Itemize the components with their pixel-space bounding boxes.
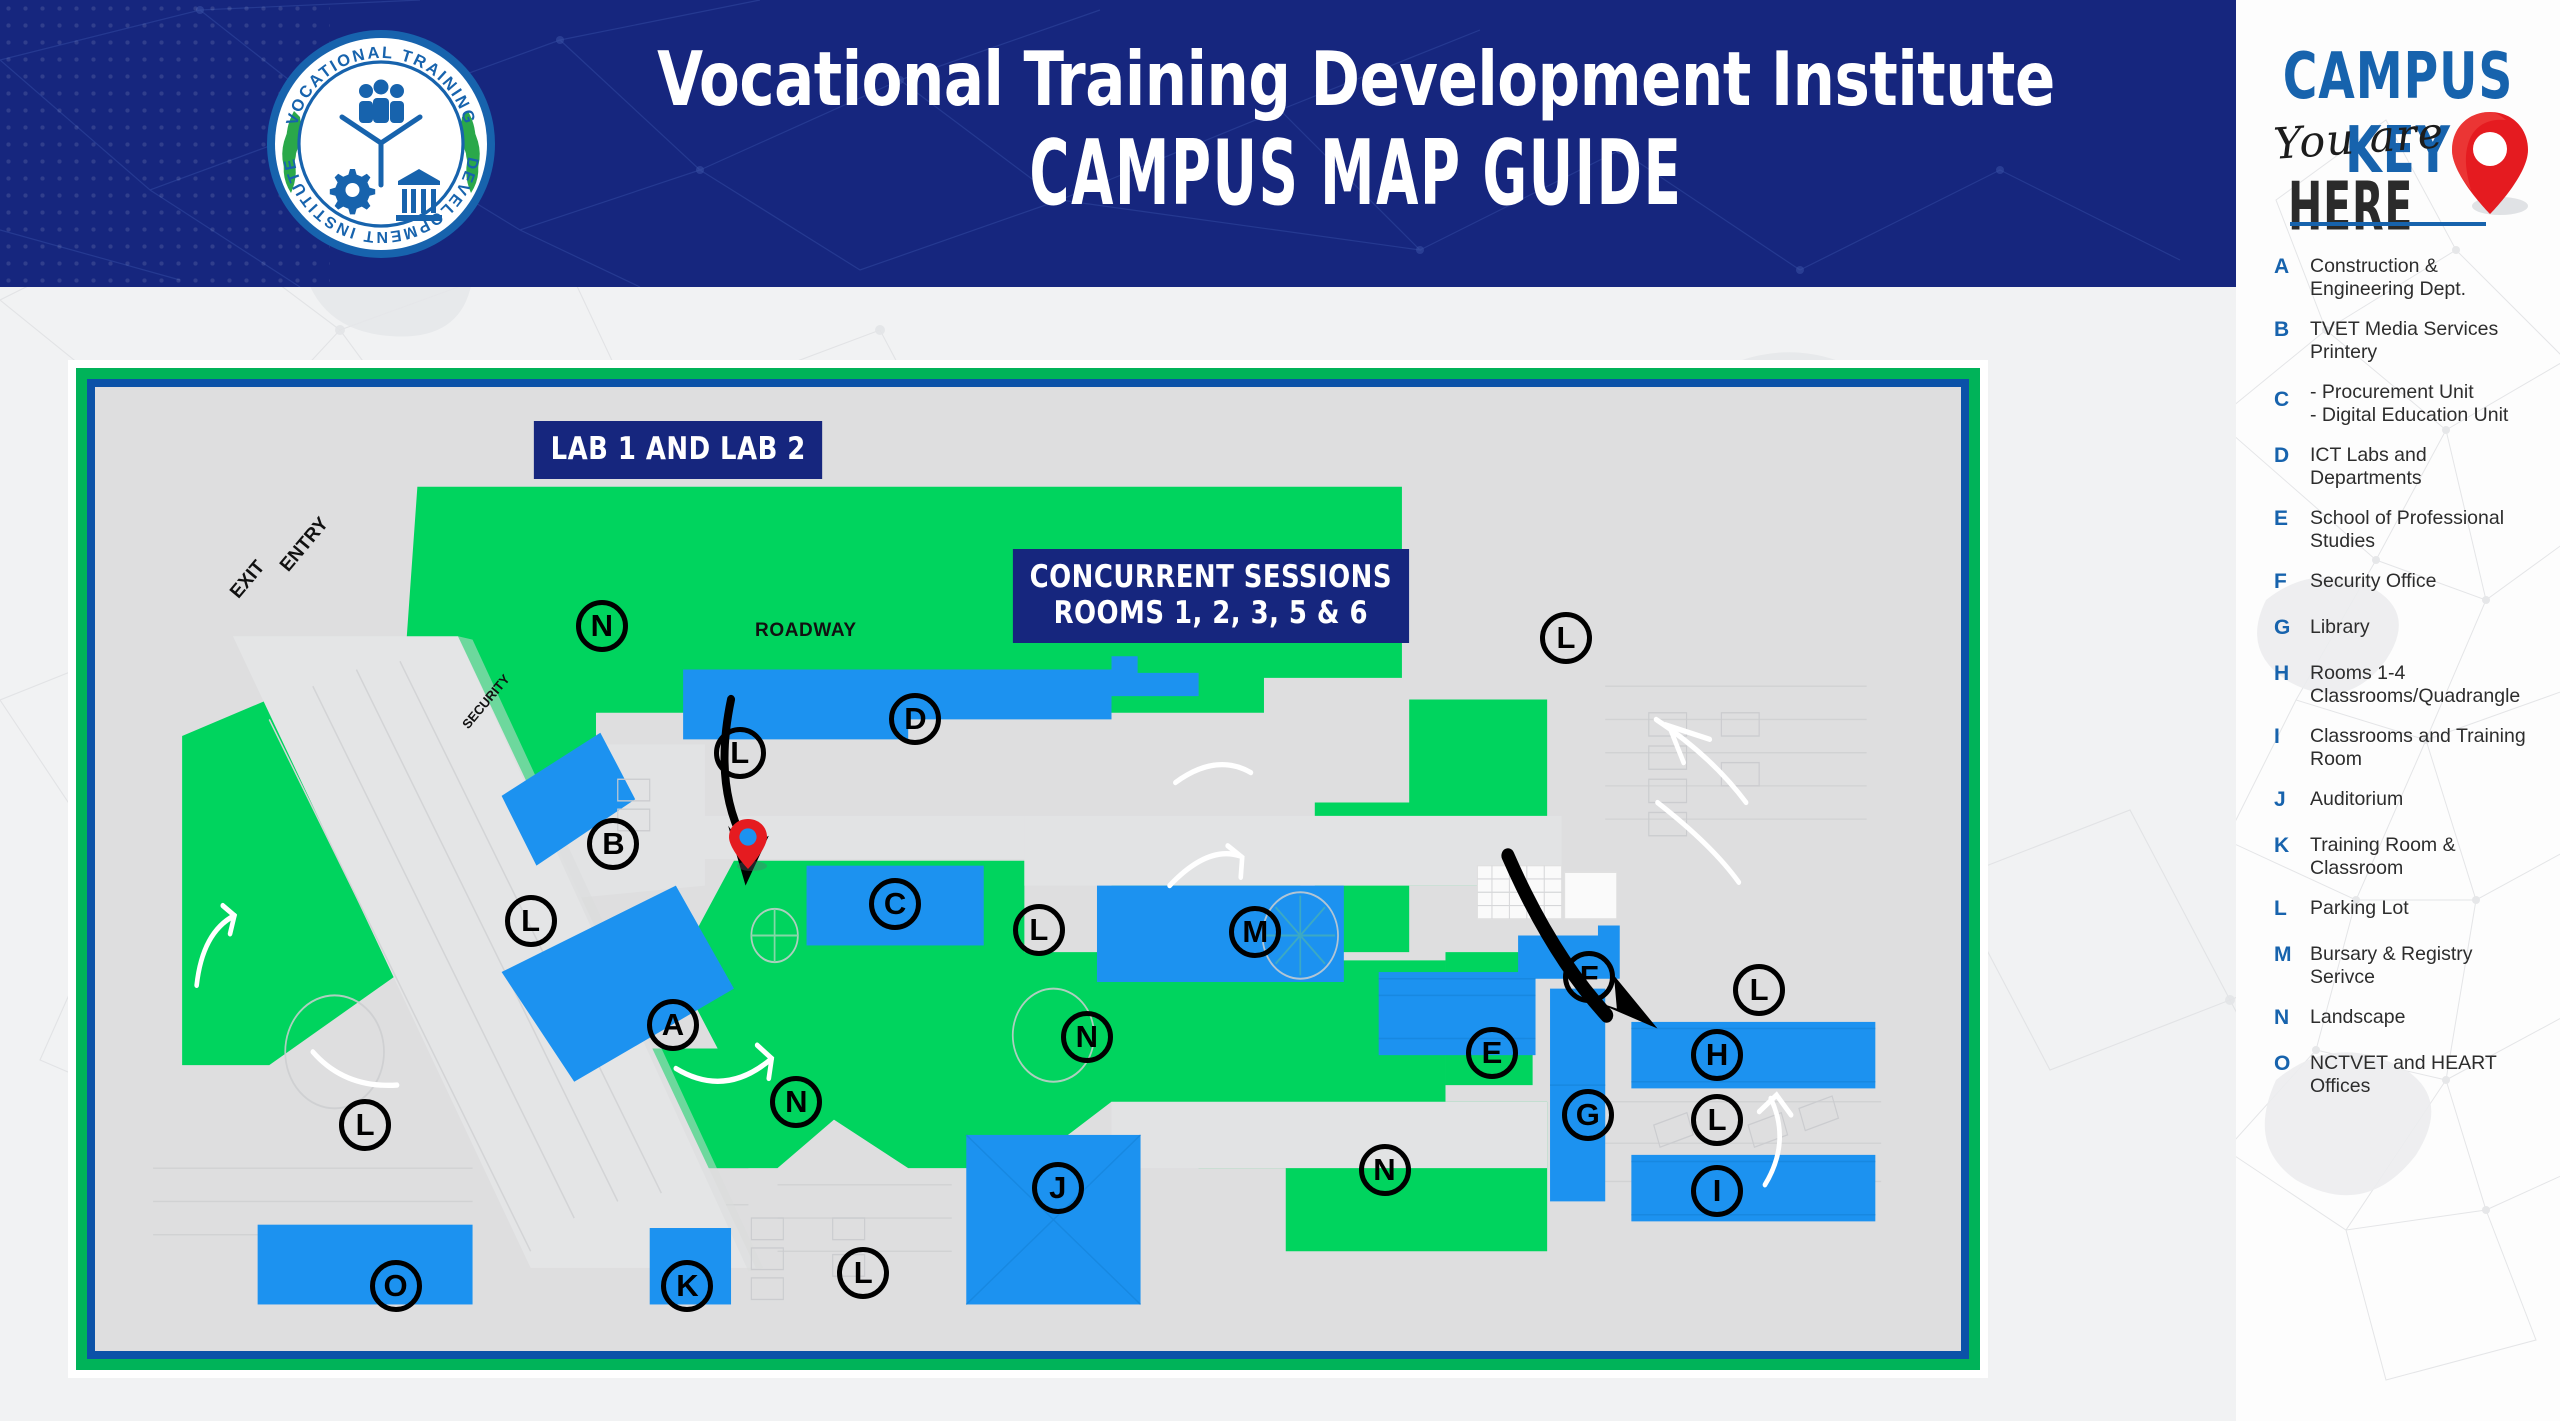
- campus-key-list: AConstruction & Engineering Dept.BTVET M…: [2236, 250, 2560, 1110]
- map-geometry: [95, 387, 1961, 1351]
- map-marker-n[interactable]: N: [1061, 1011, 1113, 1063]
- key-row-l[interactable]: LParking Lot: [2236, 892, 2560, 926]
- key-label-c: - Procurement Unit- Digital Education Un…: [2310, 376, 2508, 427]
- key-label-n: Landscape: [2310, 1001, 2405, 1029]
- key-letter-j: J: [2274, 783, 2310, 817]
- campus-map-page: VOCATIONAL TRAINING DEVELOPMENT INSTITUT…: [0, 0, 2560, 1421]
- here-text: HERE: [2288, 168, 2413, 246]
- map-marker-a[interactable]: A: [647, 999, 699, 1051]
- key-row-i[interactable]: IClassrooms and Training Room: [2236, 720, 2560, 771]
- key-row-m[interactable]: MBursary & Registry Serivce: [2236, 938, 2560, 989]
- map-marker-k[interactable]: K: [661, 1260, 713, 1312]
- map-marker-n[interactable]: N: [576, 600, 628, 652]
- map-marker-n[interactable]: N: [1359, 1144, 1411, 1196]
- key-letter-g: G: [2274, 611, 2310, 645]
- key-row-j[interactable]: JAuditorium: [2236, 783, 2560, 817]
- map-marker-h[interactable]: H: [1691, 1029, 1743, 1081]
- key-letter-k: K: [2274, 829, 2310, 863]
- map-marker-n[interactable]: N: [770, 1076, 822, 1128]
- map-marker-b[interactable]: B: [587, 818, 639, 870]
- map-marker-l[interactable]: L: [1013, 904, 1065, 956]
- key-letter-l: L: [2274, 892, 2310, 926]
- key-label-i: Classrooms and Training Room: [2310, 720, 2542, 771]
- key-letter-m: M: [2274, 938, 2310, 972]
- map-canvas[interactable]: ROADWAY ENTRY EXIT SECURITY LAB 1 AND LA…: [95, 387, 1961, 1351]
- road-label-roadway: ROADWAY: [755, 620, 857, 642]
- map-marker-j[interactable]: J: [1032, 1162, 1084, 1214]
- map-border-inner: ROADWAY ENTRY EXIT SECURITY LAB 1 AND LA…: [87, 379, 1969, 1359]
- page-title: Vocational Training Development Institut…: [652, 38, 2060, 120]
- key-letter-n: N: [2274, 1001, 2310, 1035]
- key-label-g: Library: [2310, 611, 2370, 639]
- key-letter-d: D: [2274, 439, 2310, 473]
- map-marker-m[interactable]: M: [1229, 906, 1281, 958]
- key-row-h[interactable]: HRooms 1-4 Classrooms/Quadrangle: [2236, 657, 2560, 708]
- key-label-l: Parking Lot: [2310, 892, 2409, 920]
- you-are-here-pin-icon: [2444, 108, 2536, 220]
- key-row-e[interactable]: ESchool of Professional Studies: [2236, 502, 2560, 553]
- header-title-block: Vocational Training Development Institut…: [556, 38, 2156, 204]
- map-marker-o[interactable]: O: [370, 1260, 422, 1312]
- map-marker-e[interactable]: E: [1466, 1027, 1518, 1079]
- map-marker-g[interactable]: G: [1562, 1089, 1614, 1141]
- key-label-e: School of Professional Studies: [2310, 502, 2542, 553]
- key-letter-o: O: [2274, 1047, 2310, 1081]
- key-letter-a: A: [2274, 250, 2310, 284]
- key-row-o[interactable]: ONCTVET and HEART Offices: [2236, 1047, 2560, 1098]
- key-row-n[interactable]: NLandscape: [2236, 1001, 2560, 1035]
- key-row-k[interactable]: KTraining Room & Classroom: [2236, 829, 2560, 880]
- key-label-k: Training Room & Classroom: [2310, 829, 2542, 880]
- key-row-c[interactable]: C- Procurement Unit- Digital Education U…: [2236, 376, 2560, 427]
- map-marker-l[interactable]: L: [1733, 964, 1785, 1016]
- key-letter-f: F: [2274, 565, 2310, 599]
- map-marker-l[interactable]: L: [1691, 1094, 1743, 1146]
- key-letter-c: C: [2274, 376, 2310, 424]
- key-row-g[interactable]: GLibrary: [2236, 611, 2560, 645]
- map-marker-l[interactable]: L: [1540, 612, 1592, 664]
- map-marker-l[interactable]: L: [714, 727, 766, 779]
- campus-map[interactable]: ROADWAY ENTRY EXIT SECURITY LAB 1 AND LA…: [68, 360, 1988, 1378]
- key-label-d: ICT Labs and Departments: [2310, 439, 2542, 490]
- key-label-h: Rooms 1-4 Classrooms/Quadrangle: [2310, 657, 2542, 708]
- map-marker-c[interactable]: C: [869, 878, 921, 930]
- callout-sessions[interactable]: CONCURRENT SESSIONS ROOMS 1, 2, 3, 5 & 6: [1013, 549, 1409, 643]
- key-label-f: Security Office: [2310, 565, 2436, 593]
- key-row-f[interactable]: FSecurity Office: [2236, 565, 2560, 599]
- key-label-b: TVET Media Services Printery: [2310, 313, 2542, 364]
- callout-lab[interactable]: LAB 1 AND LAB 2: [534, 421, 823, 479]
- callout-lab-line1: LAB 1 AND LAB 2: [551, 431, 806, 467]
- map-marker-i[interactable]: I: [1691, 1165, 1743, 1217]
- page-header: VOCATIONAL TRAINING DEVELOPMENT INSTITUT…: [0, 0, 2236, 287]
- key-letter-i: I: [2274, 720, 2310, 754]
- map-marker-l[interactable]: L: [339, 1099, 391, 1151]
- map-marker-f[interactable]: F: [1563, 951, 1615, 1003]
- you-are-here-pin-map: [727, 817, 769, 873]
- key-label-j: Auditorium: [2310, 783, 2403, 811]
- key-letter-h: H: [2274, 657, 2310, 691]
- map-marker-l[interactable]: L: [837, 1247, 889, 1299]
- callout-sessions-line2: ROOMS 1, 2, 3, 5 & 6: [1030, 595, 1392, 631]
- key-label-m: Bursary & Registry Serivce: [2310, 938, 2542, 989]
- key-row-a[interactable]: AConstruction & Engineering Dept.: [2236, 250, 2560, 301]
- key-letter-b: B: [2274, 313, 2310, 347]
- key-row-b[interactable]: BTVET Media Services Printery: [2236, 313, 2560, 364]
- key-letter-e: E: [2274, 502, 2310, 536]
- callout-sessions-line1: CONCURRENT SESSIONS: [1030, 559, 1392, 595]
- key-label-a: Construction & Engineering Dept.: [2310, 250, 2542, 301]
- page-subtitle: CAMPUS MAP GUIDE: [700, 126, 2012, 221]
- institute-logo: VOCATIONAL TRAINING DEVELOPMENT INSTITUT…: [258, 25, 504, 263]
- key-divider: [2290, 222, 2486, 226]
- map-border-outer: ROADWAY ENTRY EXIT SECURITY LAB 1 AND LA…: [76, 368, 1980, 1370]
- campus-key-panel: CAMPUS KEY You are HERE AConstruction & …: [2236, 0, 2560, 1421]
- key-label-o: NCTVET and HEART Offices: [2310, 1047, 2542, 1098]
- map-marker-l[interactable]: L: [505, 895, 557, 947]
- map-marker-d[interactable]: D: [889, 693, 941, 745]
- key-row-d[interactable]: DICT Labs and Departments: [2236, 439, 2560, 490]
- logo-seal-icon: VOCATIONAL TRAINING DEVELOPMENT INSTITUT…: [258, 25, 504, 263]
